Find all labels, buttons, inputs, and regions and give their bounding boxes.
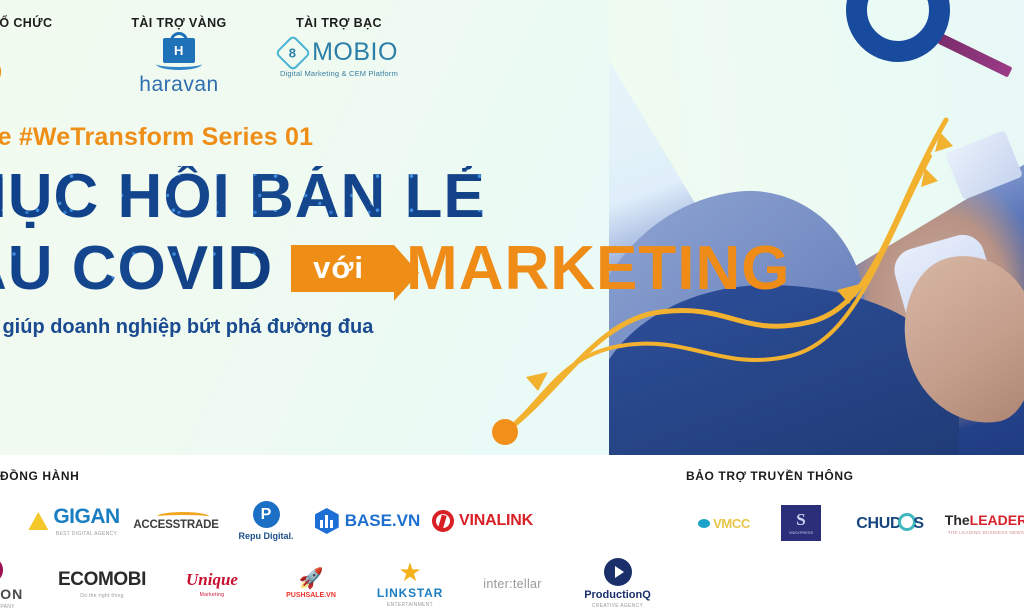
play-icon — [604, 558, 632, 586]
logo-chudoso-label-a: CHUD — [856, 515, 901, 532]
engage-logo: age — [0, 36, 78, 88]
logo-theleader[interactable]: TheLEADER THE LEADING BUSINESS NEWS — [940, 512, 1024, 535]
haravan-mark-letter: H — [174, 44, 183, 57]
hero-subhead: lạp giúp doanh nghiệp bứt phá đường đua — [0, 316, 692, 339]
mobio-hex-icon: 8 — [275, 34, 312, 71]
hero-banner: Ị TỔ CHỨC age TÀI TRỢ VÀNG H haravan TÀI… — [0, 0, 1024, 455]
sponsor-group-organizer: Ị TỔ CHỨC age — [0, 16, 78, 88]
logo-vmcc-label: VMCC — [713, 516, 750, 531]
repu-icon: P — [253, 501, 280, 528]
logo-vinalink[interactable]: VINALINK — [425, 510, 540, 532]
mobio-mark-letter: 8 — [289, 45, 296, 60]
sponsor-strip: Ị TỔ CHỨC age TÀI TRỢ VÀNG H haravan TÀI… — [0, 16, 700, 112]
logo-productionq-sub: CREATIVE AGENCY — [592, 603, 643, 609]
logo-gigan[interactable]: GIGAN BEST DIGITAL AGENCY — [18, 505, 130, 537]
rocket-icon: 🚀 — [299, 569, 324, 589]
hero-headline-block: age #WeTransform Series 01 HỤC HỒI BÁN L… — [0, 124, 692, 339]
gigan-text-block: GIGAN BEST DIGITAL AGENCY — [53, 505, 119, 537]
silver-sponsor-title: TÀI TRỢ BẠC — [296, 16, 382, 30]
play-triangle-icon — [615, 566, 624, 578]
sponsor-group-silver: TÀI TRỢ BẠC 8 MOBIO Digital Marketing & … — [264, 16, 414, 78]
logo-vmcc[interactable]: VMCC — [686, 516, 762, 531]
logo-ecomobi-label: ECOMOBI — [58, 569, 146, 591]
logo-accesstrade[interactable]: ACCESSTRADE — [130, 512, 222, 531]
logo-linkstar[interactable]: ★ LINKSTAR ENTERTAINMENT — [360, 559, 460, 608]
logo-productionq[interactable]: ProductionQ CREATIVE AGENCY — [565, 558, 670, 609]
star-icon: ★ — [398, 559, 421, 585]
shopping-bag-icon: H — [156, 34, 202, 70]
logo-base-label: BASE.VN — [345, 511, 421, 531]
logo-gigan-label: GIGAN — [53, 505, 119, 529]
logo-vinalink-label: VINALINK — [459, 512, 533, 530]
logo-novaon-sub: DIGITAL COMPANY — [0, 604, 15, 610]
logo-pushsale-label: PUSHSALE.VN — [286, 592, 336, 599]
media-block: BẢO TRỢ TRUYỀN THÔNG VMCC S VNEXPRESS CH… — [686, 469, 1016, 541]
logo-theleader-label-a: The — [945, 512, 970, 528]
partner-logo-row-1: SUPERLeo GIGAN BEST DIGITAL AGENCY ACCES… — [0, 501, 558, 541]
hero-kicker: age #WeTransform Series 01 — [0, 124, 692, 152]
logo-accesstrade-label: ACCESSTRADE — [133, 519, 218, 531]
logo-novaon[interactable]: NOVAON DIGITAL COMPANY — [0, 557, 42, 610]
gold-sponsor-title: TÀI TRỢ VÀNG — [131, 16, 226, 30]
logo-unique-label: Unique — [186, 570, 238, 590]
novaon-icon — [0, 557, 3, 583]
partner-logo-row-2: NOVAON DIGITAL COMPANY ECOMOBI Do the ri… — [0, 557, 558, 610]
haravan-logo: H haravan — [139, 34, 218, 97]
logo-theleader-sub: THE LEADING BUSINESS NEWS — [948, 530, 1024, 535]
logo-pushsale[interactable]: 🚀 PUSHSALE.VN — [262, 569, 360, 599]
logo-novaon-label: NOVAON — [0, 586, 23, 602]
logo-ecomobi[interactable]: ECOMOBI Do the right thing — [42, 569, 162, 599]
logo-chudoso[interactable]: CHUDS — [840, 513, 940, 533]
organizer-title: Ị TỔ CHỨC — [0, 16, 52, 30]
logo-interstellar[interactable]: inter:tellar — [460, 577, 565, 591]
voi-badge: với — [291, 245, 394, 292]
engage-swoosh-icon — [0, 52, 5, 90]
logo-chudoso-label-b: S — [913, 515, 923, 532]
gigan-icon — [28, 512, 48, 530]
logo-interstellar-label: inter:tellar — [483, 577, 541, 591]
logo-vnexpress-sub: VNEXPRESS — [789, 530, 813, 535]
footer-sponsors: ĐỒNG HÀNH SUPERLeo GIGAN BEST DIGITAL AG… — [0, 455, 1024, 615]
logo-unique[interactable]: Unique Marketing — [162, 570, 262, 598]
logo-linkstar-sub: ENTERTAINMENT — [387, 602, 433, 608]
media-title: BẢO TRỢ TRUYỀN THÔNG — [686, 469, 1016, 483]
hero-headline-covid: ẬU COVID — [0, 238, 273, 300]
partners-title: ĐỒNG HÀNH — [0, 469, 558, 483]
vmcc-dot-icon — [698, 519, 710, 528]
logo-gigan-sub: BEST DIGITAL AGENCY — [56, 531, 117, 537]
base-bars-icon — [320, 515, 333, 528]
logo-ecomobi-sub: Do the right thing — [80, 593, 123, 599]
mobio-logo-row: 8 MOBIO — [280, 38, 398, 67]
logo-sbf[interactable]: SUPERLeo — [0, 509, 18, 534]
media-logo-row: VMCC S VNEXPRESS CHUDS TheLEADER THE LEA… — [686, 505, 1016, 541]
hero-headline-line1: HỤC HỒI BÁN LẺ — [0, 166, 692, 228]
logo-repu-label: Repu Digital. — [238, 531, 293, 541]
logo-base-vn[interactable]: BASE.VN — [310, 508, 425, 534]
haravan-logo-text: haravan — [139, 73, 218, 97]
theleader-text-block: TheLEADER — [945, 512, 1024, 528]
base-hex-icon — [315, 508, 339, 534]
hero-headline-line2: ẬU COVID với MARKETING — [0, 238, 692, 300]
chudoso-text-block: CHUDS — [856, 513, 923, 533]
logo-repu-digital[interactable]: P Repu Digital. — [222, 501, 310, 541]
partners-block: ĐỒNG HÀNH SUPERLeo GIGAN BEST DIGITAL AG… — [0, 469, 558, 610]
mobio-logo-text: MOBIO — [312, 38, 398, 67]
logo-productionq-label: ProductionQ — [584, 589, 651, 601]
logo-vnexpress[interactable]: S VNEXPRESS — [762, 505, 840, 541]
sponsor-group-gold: TÀI TRỢ VÀNG H haravan — [114, 16, 244, 97]
logo-theleader-label-b: LEADER — [970, 512, 1024, 528]
logo-vnexpress-label: S — [796, 511, 805, 528]
hero-headline-marketing: MARKETING — [406, 238, 790, 300]
vinalink-icon — [432, 510, 454, 532]
logo-unique-sub: Marketing — [200, 592, 225, 598]
vnexpress-box-icon: S VNEXPRESS — [781, 505, 821, 541]
logo-linkstar-label: LINKSTAR — [377, 586, 443, 600]
mobio-tagline: Digital Marketing & CEM Platform — [280, 69, 398, 78]
mobio-logo: 8 MOBIO Digital Marketing & CEM Platform — [280, 38, 398, 78]
wave-icon — [156, 58, 202, 70]
